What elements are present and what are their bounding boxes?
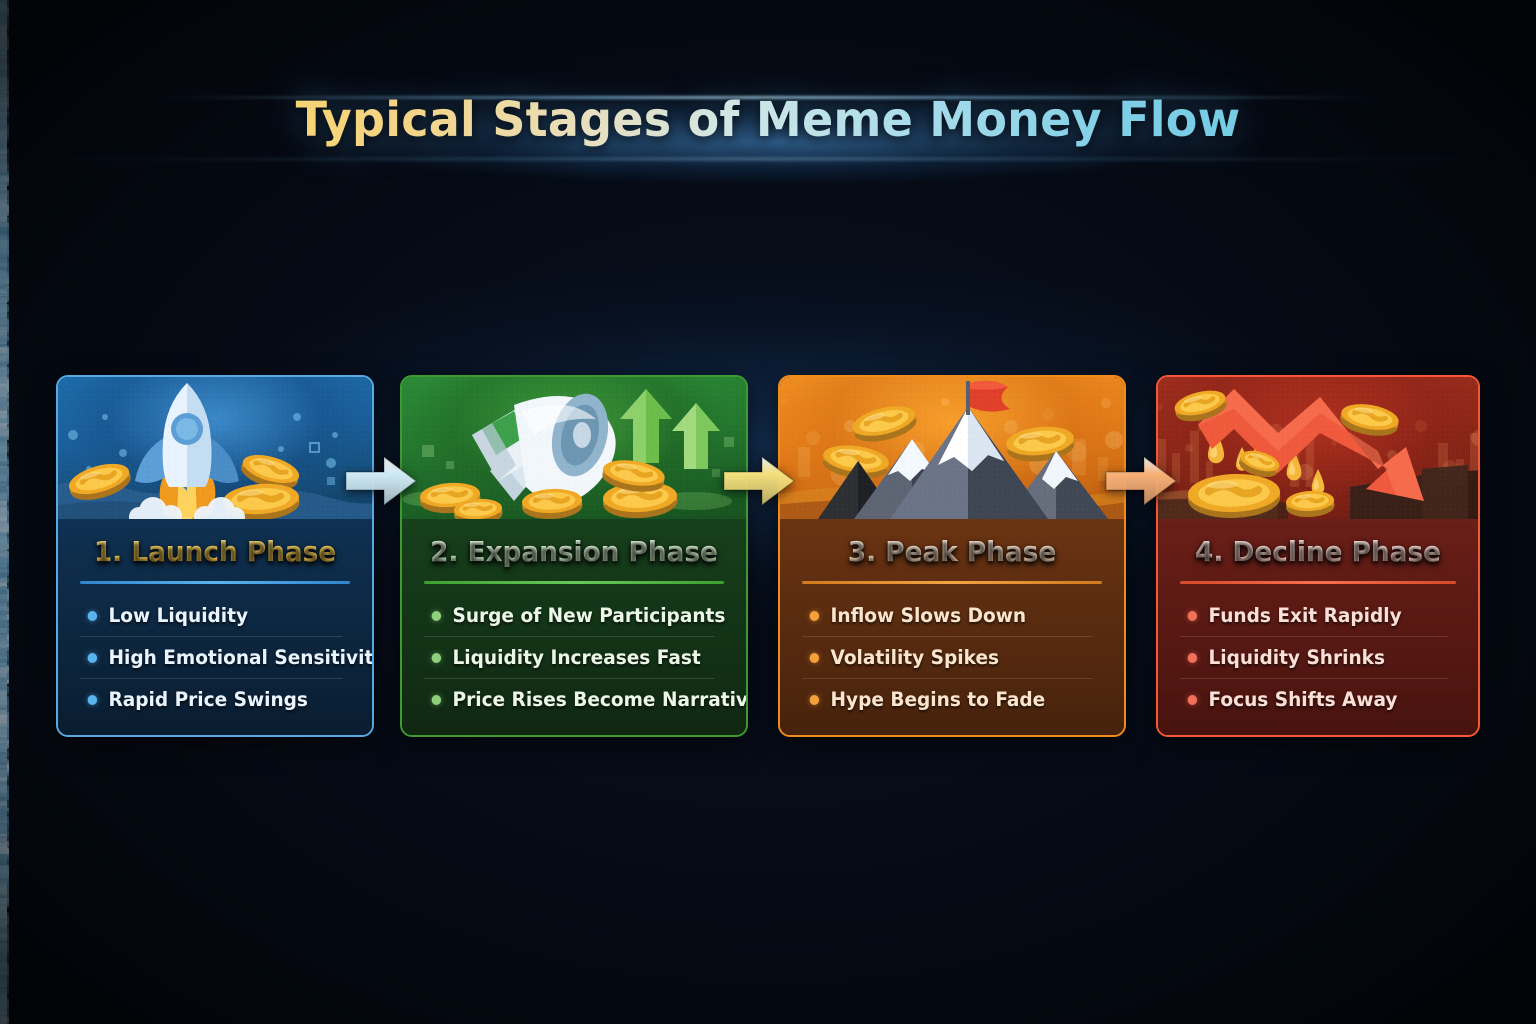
- bullet-label: Inflow Slows Down: [831, 604, 1027, 627]
- stages-row: 1. Launch PhaseLow LiquidityHigh Emotion…: [56, 375, 1480, 737]
- stage-card-body: 2. Expansion PhaseSurge of New Participa…: [402, 519, 746, 735]
- mountain-peak-icon: [780, 377, 1124, 519]
- list-item: Liquidity Shrinks: [1180, 637, 1448, 679]
- card-art-noise: [780, 377, 1124, 519]
- list-item: Funds Exit Rapidly: [1180, 595, 1448, 637]
- page-title: Typical Stages of Meme Money Flow: [31, 92, 1506, 148]
- stage-card-bullet-list: Surge of New ParticipantsLiquidity Incre…: [424, 595, 730, 721]
- bullet-dot-icon: [1188, 695, 1198, 705]
- list-item: Price Rises Become Narrative: [424, 679, 715, 721]
- bullet-label: High Emotional Sensitivity: [109, 646, 375, 669]
- stage-card-title: 4. Decline Phase: [1168, 535, 1469, 568]
- list-item: Surge of New Participants: [424, 595, 715, 637]
- bullet-dot-icon: [810, 695, 820, 705]
- stage-card-divider: [80, 581, 350, 584]
- bullet-label: Liquidity Shrinks: [1209, 646, 1386, 669]
- bullet-dot-icon: [432, 611, 442, 621]
- stage-card-divider: [424, 581, 724, 584]
- stage-card-body: 1. Launch PhaseLow LiquidityHigh Emotion…: [58, 519, 372, 735]
- rocket-icon: [58, 377, 372, 519]
- stage-card-body: 4. Decline PhaseFunds Exit RapidlyLiquid…: [1158, 519, 1478, 735]
- stage-card-3[interactable]: 3. Peak PhaseInflow Slows DownVolatility…: [778, 375, 1126, 737]
- bullet-label: Liquidity Increases Fast: [453, 646, 701, 669]
- stage-card-title: 2. Expansion Phase: [412, 535, 735, 568]
- list-item: Inflow Slows Down: [802, 595, 1093, 637]
- bullet-dot-icon: [1188, 611, 1198, 621]
- list-item: Low Liquidity: [80, 595, 342, 637]
- bullet-dot-icon: [1188, 653, 1198, 663]
- card-art-noise: [402, 377, 746, 519]
- arrow-launch-to-expansion: [344, 452, 418, 510]
- card-art-noise: [1158, 377, 1478, 519]
- stage-card-title: 1. Launch Phase: [67, 535, 362, 568]
- bullet-label: Price Rises Become Narrative: [453, 688, 749, 711]
- stage-card-2[interactable]: 2. Expansion PhaseSurge of New Participa…: [400, 375, 748, 737]
- stage-card-4[interactable]: 4. Decline PhaseFunds Exit RapidlyLiquid…: [1156, 375, 1480, 737]
- bullet-dot-icon: [432, 695, 442, 705]
- stage-card-body: 3. Peak PhaseInflow Slows DownVolatility…: [780, 519, 1124, 735]
- stage-card-title: 3. Peak Phase: [790, 535, 1113, 568]
- list-item: Volatility Spikes: [802, 637, 1093, 679]
- bullet-label: Surge of New Participants: [453, 604, 726, 627]
- bullet-dot-icon: [88, 611, 98, 621]
- bullet-label: Funds Exit Rapidly: [1209, 604, 1402, 627]
- bullet-dot-icon: [810, 653, 820, 663]
- card-art-noise: [58, 377, 372, 519]
- arrow-peak-to-decline: [1104, 452, 1178, 510]
- bullet-dot-icon: [88, 695, 98, 705]
- megaphone-icon: [402, 377, 746, 519]
- list-item: High Emotional Sensitivity: [80, 637, 342, 679]
- stage-card-bullet-list: Inflow Slows DownVolatility SpikesHype B…: [802, 595, 1108, 721]
- bullet-dot-icon: [810, 611, 820, 621]
- stage-card-bullet-list: Low LiquidityHigh Emotional SensitivityR…: [80, 595, 356, 721]
- bullet-dot-icon: [88, 653, 98, 663]
- bullet-label: Low Liquidity: [109, 604, 249, 627]
- list-item: Rapid Price Swings: [80, 679, 342, 721]
- bullet-dot-icon: [432, 653, 442, 663]
- arrow-expansion-to-peak: [722, 452, 796, 510]
- bullet-label: Rapid Price Swings: [109, 688, 308, 711]
- stage-card-1[interactable]: 1. Launch PhaseLow LiquidityHigh Emotion…: [56, 375, 374, 737]
- downward-chart-arrow-icon: [1158, 377, 1478, 519]
- list-item: Liquidity Increases Fast: [424, 637, 715, 679]
- stage-card-divider: [802, 581, 1102, 584]
- stage-card-divider: [1180, 581, 1456, 584]
- stage-card-bullet-list: Funds Exit RapidlyLiquidity ShrinksFocus…: [1180, 595, 1462, 721]
- bullet-label: Focus Shifts Away: [1209, 688, 1398, 711]
- list-item: Hype Begins to Fade: [802, 679, 1093, 721]
- list-item: Focus Shifts Away: [1180, 679, 1448, 721]
- bullet-label: Hype Begins to Fade: [831, 688, 1046, 711]
- bullet-label: Volatility Spikes: [831, 646, 1000, 669]
